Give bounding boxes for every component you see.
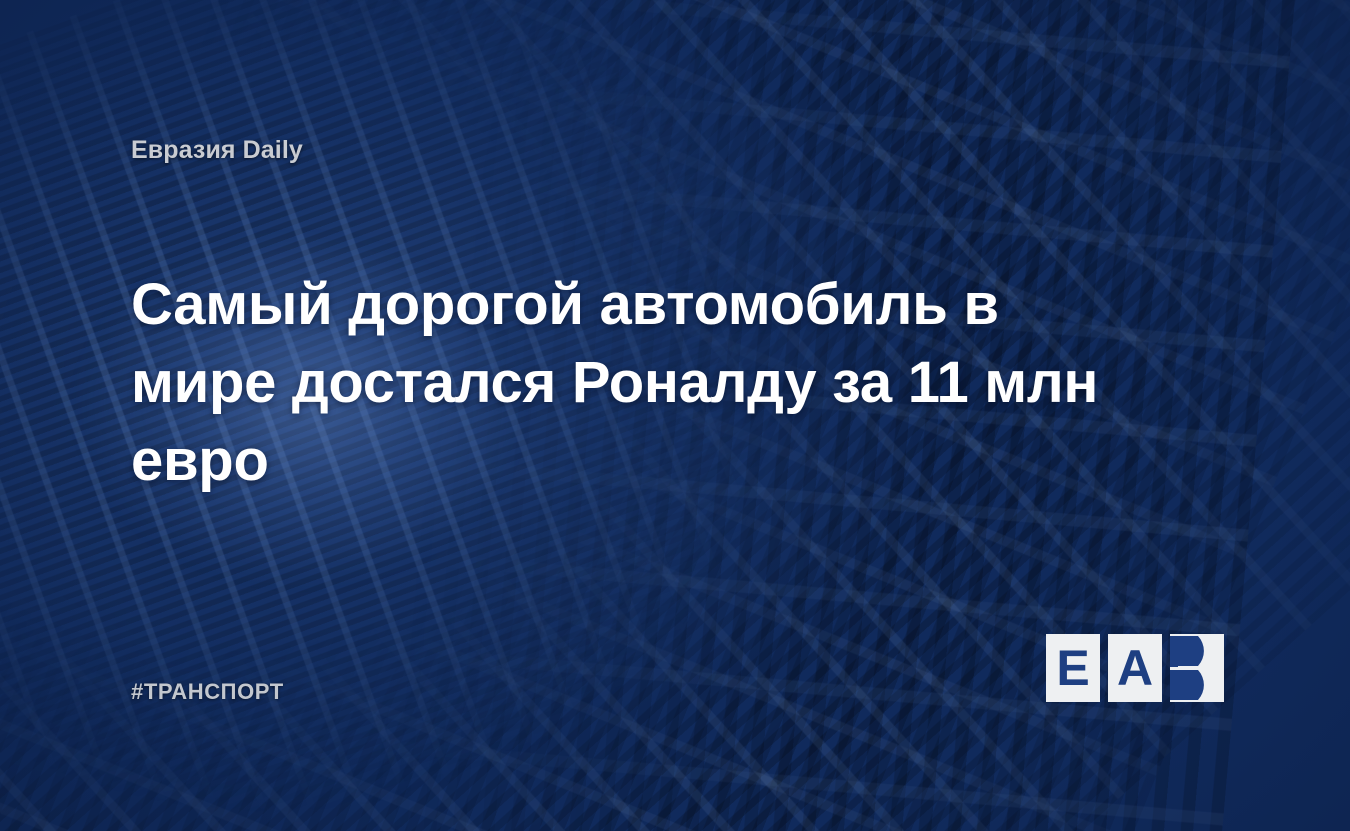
category-hashtag[interactable]: #ТРАНСПОРТ [131, 679, 284, 705]
logo-letter-a: A [1108, 634, 1162, 702]
logo-d-split [1170, 667, 1224, 670]
card-content: Евразия Daily Самый дорогой автомобиль в… [0, 0, 1350, 831]
publication-name: Евразия Daily [131, 136, 303, 165]
article-headline: Самый дорогой автомобиль в мире достался… [131, 266, 1121, 500]
logo-letter-e: E [1046, 634, 1100, 702]
article-card: Евразия Daily Самый дорогой автомобиль в… [0, 0, 1350, 831]
eadaily-logo[interactable]: E A [1046, 634, 1226, 704]
